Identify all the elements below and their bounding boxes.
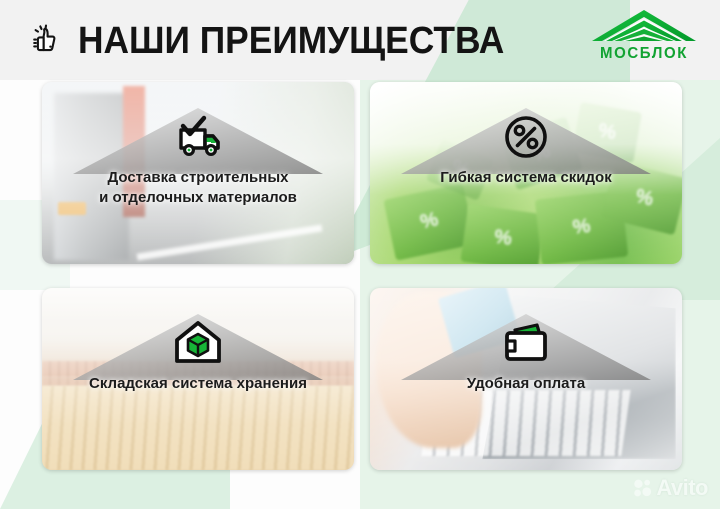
avito-wordmark: Avito [656, 475, 708, 501]
card-label-discounts: Гибкая система скидок [378, 168, 674, 188]
card-label-line1: Гибкая система скидок [378, 168, 674, 188]
card-label-line1: Удобная оплата [378, 374, 674, 394]
thumbs-up-icon [30, 24, 64, 58]
wallet-icon [499, 316, 553, 370]
card-label-line2: и отделочных материалов [50, 188, 346, 208]
card-label-warehouse: Складская система хранения [50, 374, 346, 394]
avito-watermark: Avito [633, 475, 708, 501]
warehouse-box-icon [171, 316, 225, 370]
advantage-card-discounts[interactable]: % % % % % % % Гибкая система скидок [370, 82, 682, 264]
advantage-card-delivery[interactable]: Доставка строительных и отделочных матер… [42, 82, 354, 264]
mosblok-logo[interactable]: МОСБЛОК [586, 8, 702, 70]
avito-dots-icon [633, 478, 653, 498]
card-label-payment: Удобная оплата [378, 374, 674, 394]
card-label-line1: Складская система хранения [50, 374, 346, 394]
page-title: НАШИ ПРЕИМУЩЕСТВА [78, 18, 504, 64]
percent-circle-icon [499, 110, 553, 164]
advantage-card-payment[interactable]: Удобная оплата [370, 288, 682, 470]
header: НАШИ ПРЕИМУЩЕСТВА МОСБЛОК [0, 0, 720, 78]
logo-text: МОСБЛОК [600, 45, 688, 63]
card-label-delivery: Доставка строительных и отделочных матер… [50, 168, 346, 208]
card-label-line1: Доставка строительных [50, 168, 346, 188]
logo-chevron-mark [590, 8, 698, 46]
advantage-card-warehouse[interactable]: Складская система хранения [42, 288, 354, 470]
delivery-truck-icon [171, 110, 225, 164]
